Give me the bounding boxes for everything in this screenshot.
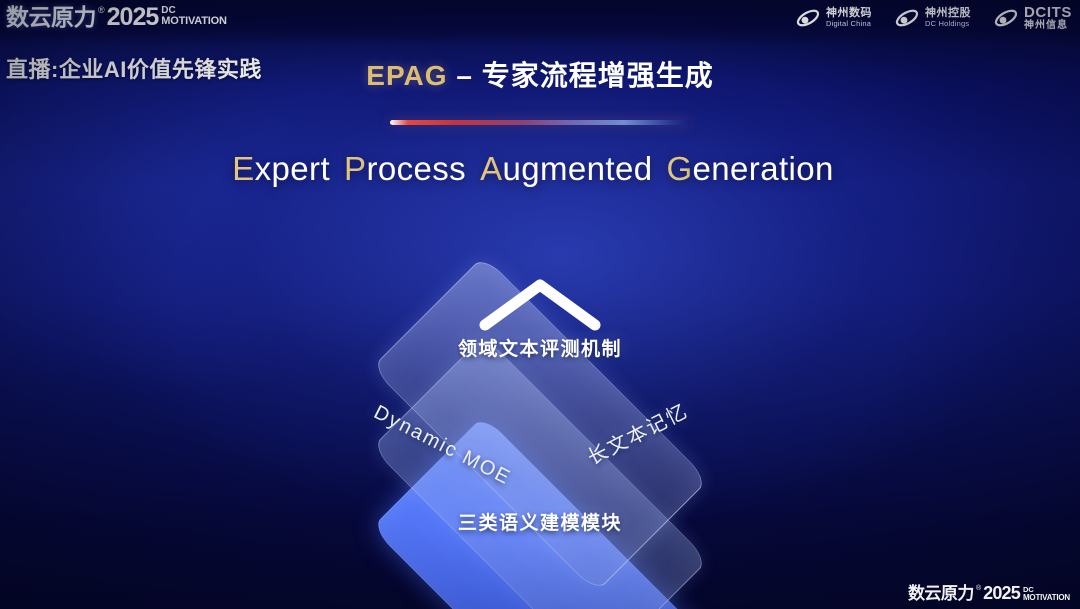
diagram-layer-bottom-label: 三类语义建模模块	[0, 508, 1080, 535]
swoosh-icon	[894, 6, 920, 30]
subtitle-expanded-acronym: ExpertProcessAugmentedGeneration	[0, 150, 1080, 188]
partner-text: DCITS 神州信息	[1024, 5, 1072, 31]
title-separator: –	[448, 60, 482, 91]
subtitle-word-process: Process	[344, 150, 466, 187]
diagram-layer-middle	[371, 335, 708, 609]
partner-text: 神州控股 DC Holdings	[925, 8, 971, 27]
brand-year: 2025	[107, 4, 159, 30]
diagram-layer-top-label: 领域文本评测机制	[0, 334, 1080, 361]
subtitle-rest-process: rocess	[366, 150, 466, 187]
subtitle-rest-expert: xpert	[255, 150, 330, 187]
partner-logo-dcits: DCITS 神州信息	[993, 5, 1072, 31]
subtitle-word-augmented: Augmented	[480, 150, 652, 187]
subtitle-word-generation: Generation	[666, 150, 833, 187]
partner-name-en: DC Holdings	[925, 20, 971, 28]
subtitle-rest-augmented: ugmented	[502, 150, 652, 187]
diagram-layer-middle-label-left: Dynamic MOE	[370, 401, 515, 490]
partner-logo-digital-china: 神州数码 Digital China	[795, 6, 872, 30]
partner-logo-dc-holdings: 神州控股 DC Holdings	[894, 6, 971, 30]
subtitle-cap-a: A	[480, 150, 502, 187]
subtitle-cap-e: E	[232, 150, 254, 187]
watermark-dc-motivation: DC MOTIVATION	[1023, 584, 1070, 602]
diagram-layer-bottom	[371, 415, 708, 609]
brand-registered-mark: ®	[98, 4, 105, 16]
watermark-year: 2025	[983, 584, 1020, 603]
watermark-dc-line2: MOTIVATION	[1023, 594, 1070, 602]
title-acronym: EPAG	[366, 60, 447, 91]
brand-logo: 数云原力 ® 2025 DC MOTIVATION	[6, 4, 227, 30]
partner-logo-group: 神州数码 Digital China 神州控股 DC Holdings DCIT…	[795, 5, 1072, 31]
partner-name-en: DCITS	[1024, 5, 1072, 21]
subtitle-cap-p: P	[344, 150, 366, 187]
title-divider	[390, 120, 690, 125]
chevron-up-icon	[477, 275, 603, 335]
slide-canvas: 数云原力 ® 2025 DC MOTIVATION 直播:企业AI价值先锋实践 …	[0, 0, 1080, 609]
subtitle-rest-generation: eneration	[693, 150, 834, 187]
watermark-logo: 数云原力 ® 2025 DC MOTIVATION	[908, 584, 1070, 603]
partner-name-en: Digital China	[826, 20, 872, 28]
brand-dc-motivation: DC MOTIVATION	[161, 4, 226, 27]
swoosh-icon	[795, 6, 821, 30]
brand-name-cn: 数云原力	[6, 4, 96, 30]
watermark-name-cn: 数云原力	[908, 584, 974, 603]
swoosh-icon	[993, 6, 1019, 30]
brand-dc-line2: MOTIVATION	[161, 16, 226, 27]
partner-text: 神州数码 Digital China	[826, 8, 872, 27]
title-chinese: 专家流程增强生成	[482, 60, 714, 91]
watermark-registered-mark: ®	[976, 584, 981, 593]
diagram-layer-middle-label-right: 长文本记忆	[581, 395, 692, 471]
partner-name-cn: 神州信息	[1024, 21, 1072, 32]
subtitle-word-expert: Expert	[232, 150, 330, 187]
subtitle-cap-g: G	[666, 150, 692, 187]
page-title: EPAG – 专家流程增强生成	[0, 54, 1080, 94]
